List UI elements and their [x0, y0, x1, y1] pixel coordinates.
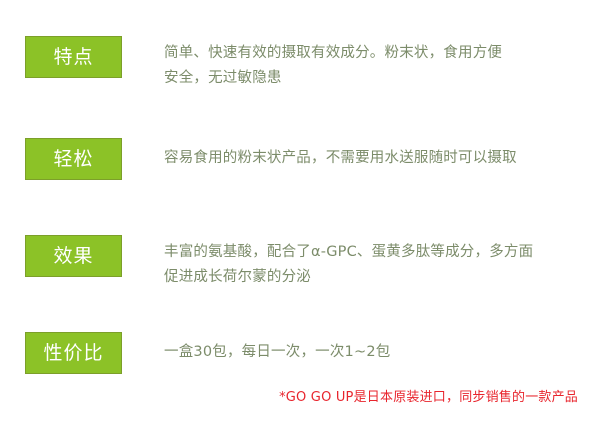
feature-description-2: 容易食用的粉末状产品，不需要用水送服随时可以摄取	[164, 146, 584, 171]
feature-description-line: 一盒30包，每日一次，一次1~2包	[164, 340, 584, 365]
feature-description-line: 丰富的氨基酸，配合了α-GPC、蛋黄多肽等成分，多方面	[164, 240, 584, 265]
feature-label-chip-4: 性价比	[25, 332, 122, 374]
feature-label-chip-1: 特点	[25, 36, 122, 78]
feature-label-chip-3: 效果	[25, 235, 122, 277]
feature-description-line: 容易食用的粉末状产品，不需要用水送服随时可以摄取	[164, 146, 584, 171]
feature-description-4: 一盒30包，每日一次，一次1~2包	[164, 340, 584, 365]
footnote-text: *GO GO UP是日本原装进口，同步销售的一款产品	[279, 389, 578, 407]
feature-description-line: 安全，无过敏隐患	[164, 66, 584, 91]
product-feature-panel: 特点 简单、快速有效的摄取有效成分。粉末状，食用方便 安全，无过敏隐患 轻松 容…	[0, 0, 600, 423]
feature-description-line: 促进成长荷尔蒙的分泌	[164, 265, 584, 290]
feature-description-1: 简单、快速有效的摄取有效成分。粉末状，食用方便 安全，无过敏隐患	[164, 41, 584, 91]
feature-label-chip-2: 轻松	[25, 138, 122, 180]
feature-description-line: 简单、快速有效的摄取有效成分。粉末状，食用方便	[164, 41, 584, 66]
feature-description-3: 丰富的氨基酸，配合了α-GPC、蛋黄多肽等成分，多方面 促进成长荷尔蒙的分泌	[164, 240, 584, 290]
